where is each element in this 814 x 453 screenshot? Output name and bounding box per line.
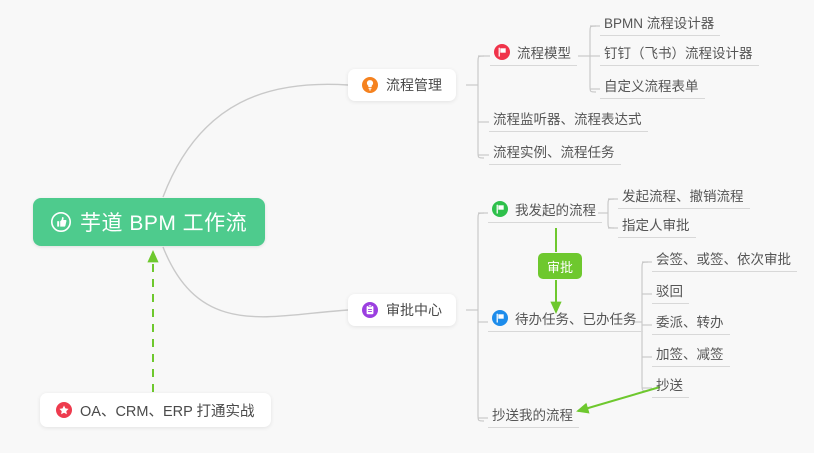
node-todo-done-tasks-label: 待办任务、已办任务: [515, 308, 637, 328]
mindmap-canvas: 芋道 BPM 工作流 流程管理 流程模型 BPMN 流程设计器 钉钉（飞: [0, 0, 814, 453]
lightbulb-icon: [362, 77, 378, 93]
node-assignee-approval-label: 指定人审批: [622, 214, 690, 234]
node-listener-expression-label: 流程监听器、流程表达式: [493, 108, 642, 128]
node-dingtalk-feishu-designer-label: 钉钉（飞书）流程设计器: [604, 42, 753, 62]
node-add-remove-sign-label: 加签、减签: [656, 343, 724, 363]
node-cc-label: 抄送: [656, 374, 683, 394]
node-listener-expression[interactable]: 流程监听器、流程表达式: [489, 108, 648, 132]
root-label: 芋道 BPM 工作流: [80, 207, 247, 237]
node-start-cancel-label: 发起流程、撤销流程: [622, 185, 744, 205]
connector-todo-done-bracket: [642, 262, 648, 391]
node-countersign[interactable]: 会签、或签、依次审批: [652, 248, 797, 272]
approval-badge-label: 审批: [547, 257, 573, 276]
node-approval-center-label: 审批中心: [386, 300, 442, 320]
approval-badge[interactable]: 审批: [538, 253, 582, 279]
thumbs-up-icon: [51, 212, 71, 232]
node-todo-done-tasks[interactable]: 待办任务、已办任务: [488, 308, 643, 332]
node-integration-practice[interactable]: OA、CRM、ERP 打通实战: [40, 393, 271, 427]
root-node[interactable]: 芋道 BPM 工作流: [33, 198, 265, 246]
node-process-model-label: 流程模型: [517, 42, 571, 62]
cc-link-arrow: [578, 387, 660, 411]
node-delegate-transfer-label: 委派、转办: [656, 311, 724, 331]
node-reject-label: 驳回: [656, 280, 683, 300]
node-instance-task-label: 流程实例、流程任务: [493, 141, 615, 161]
connector-process-model-bracket: [590, 26, 596, 92]
node-my-initiated[interactable]: 我发起的流程: [488, 199, 602, 223]
node-process-management[interactable]: 流程管理: [348, 69, 456, 101]
node-delegate-transfer[interactable]: 委派、转办: [652, 311, 730, 335]
node-process-management-label: 流程管理: [386, 75, 442, 95]
node-assignee-approval[interactable]: 指定人审批: [618, 214, 696, 238]
connector-process-management-bracket: [478, 56, 484, 158]
node-countersign-label: 会签、或签、依次审批: [656, 248, 791, 268]
node-process-model[interactable]: 流程模型: [490, 42, 577, 66]
connector-my-initiated-bracket: [608, 199, 614, 228]
node-bpmn-designer[interactable]: BPMN 流程设计器: [600, 12, 720, 36]
node-start-cancel[interactable]: 发起流程、撤销流程: [618, 185, 750, 209]
connector-approval-center-bracket: [478, 213, 484, 421]
node-dingtalk-feishu-designer[interactable]: 钉钉（飞书）流程设计器: [600, 42, 759, 66]
node-approval-center[interactable]: 审批中心: [348, 294, 456, 326]
flag-green-icon: [492, 201, 508, 217]
node-add-remove-sign[interactable]: 加签、减签: [652, 343, 730, 367]
connector-root-to-approval-center: [163, 247, 348, 317]
flag-blue-icon: [492, 310, 508, 326]
node-bpmn-designer-label: BPMN 流程设计器: [604, 12, 714, 32]
node-custom-process-form-label: 自定义流程表单: [604, 75, 699, 95]
node-cc-to-me[interactable]: 抄送我的流程: [488, 404, 579, 428]
node-my-initiated-label: 我发起的流程: [515, 199, 596, 219]
node-custom-process-form[interactable]: 自定义流程表单: [600, 75, 705, 99]
clipboard-purple-icon: [362, 302, 378, 318]
star-red-icon: [56, 402, 72, 418]
node-integration-practice-label: OA、CRM、ERP 打通实战: [80, 400, 255, 421]
node-instance-task[interactable]: 流程实例、流程任务: [489, 141, 621, 165]
flag-red-icon: [494, 44, 510, 60]
connector-root-to-process-management: [163, 84, 348, 197]
node-cc[interactable]: 抄送: [652, 374, 689, 398]
node-reject[interactable]: 驳回: [652, 280, 689, 304]
node-cc-to-me-label: 抄送我的流程: [492, 404, 573, 424]
